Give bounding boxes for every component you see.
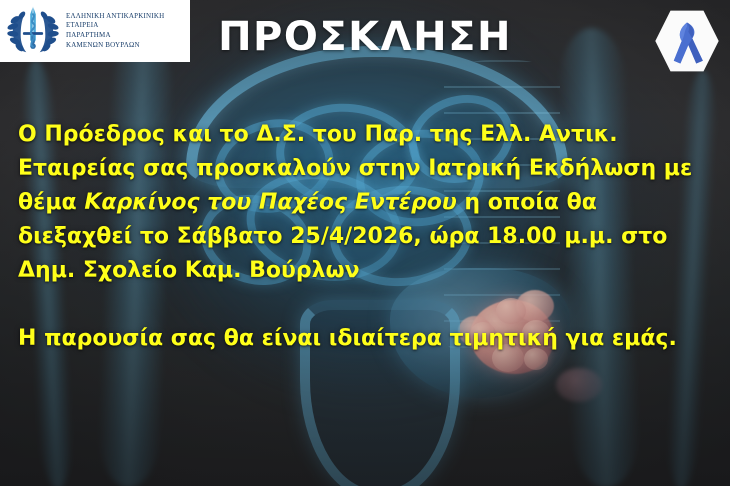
- body-line-3: θέμα Καρκίνος του Παχέος Εντέρου η οποία…: [18, 186, 714, 220]
- invitation-poster: ΕΛΛΗΝΙΚΗ ΑΝΤΙΚΑΡΚΙΝΙΚΗ ΕΤΑΙΡΕΙΑ ΠΑΡΑΡΤΗΜ…: [0, 0, 730, 486]
- body-line-1: Ο Πρόεδρος και το Δ.Σ. του Παρ. της Ελλ.…: [18, 118, 714, 152]
- body-line-3-prefix: θέμα: [18, 190, 84, 215]
- invitation-body: Ο Πρόεδρος και το Δ.Σ. του Παρ. της Ελλ.…: [18, 118, 714, 356]
- body-line-2: Εταιρείας σας προσκαλούν στην Ιατρική Εκ…: [18, 152, 714, 186]
- page-title: ΠΡΟΣΚΛΗΣΗ: [0, 14, 730, 60]
- body-spacer: [18, 288, 714, 322]
- event-topic: Καρκίνος του Παχέος Εντέρου: [84, 190, 456, 215]
- body-line-4: διεξαχθεί το Σάββατο 25/4/2026, ώρα 18.0…: [18, 220, 714, 254]
- body-line-3-suffix: η οποία θα: [457, 190, 597, 215]
- body-line-5: Δημ. Σχολείο Καμ. Βούρλων: [18, 254, 714, 288]
- body-line-6: Η παρουσία σας θα είναι ιδιαίτερα τιμητι…: [18, 322, 714, 356]
